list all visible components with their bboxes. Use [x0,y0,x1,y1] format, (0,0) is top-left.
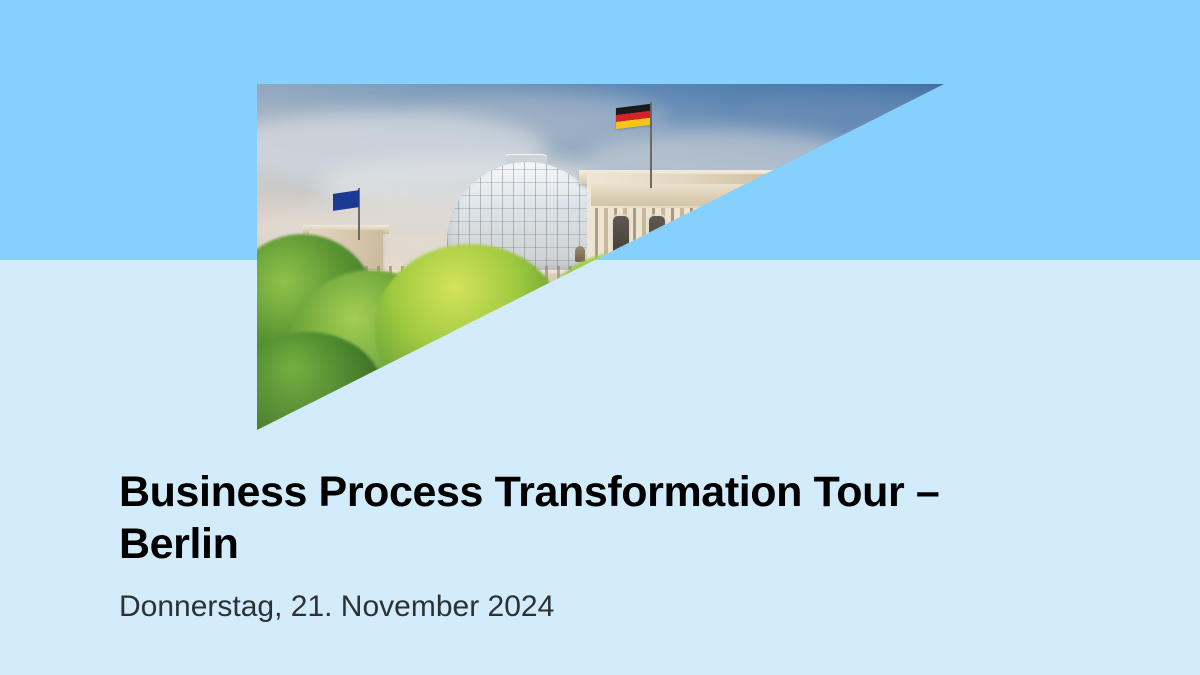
roof-statue [575,246,585,262]
eu-flag-icon [333,190,359,211]
german-flag-center-icon [616,104,650,129]
title-block: Business Process Transformation Tour – B… [119,466,1039,625]
page-title-line-2: Berlin [119,520,238,568]
page-title: Business Process Transformation Tour – B… [119,466,1019,571]
slide-canvas: Business Process Transformation Tour – B… [0,0,1200,675]
flagpole-center [650,102,652,188]
event-date: Donnerstag, 21. November 2024 [119,589,1039,625]
page-title-line-1: Business Process Transformation Tour – [119,468,939,516]
